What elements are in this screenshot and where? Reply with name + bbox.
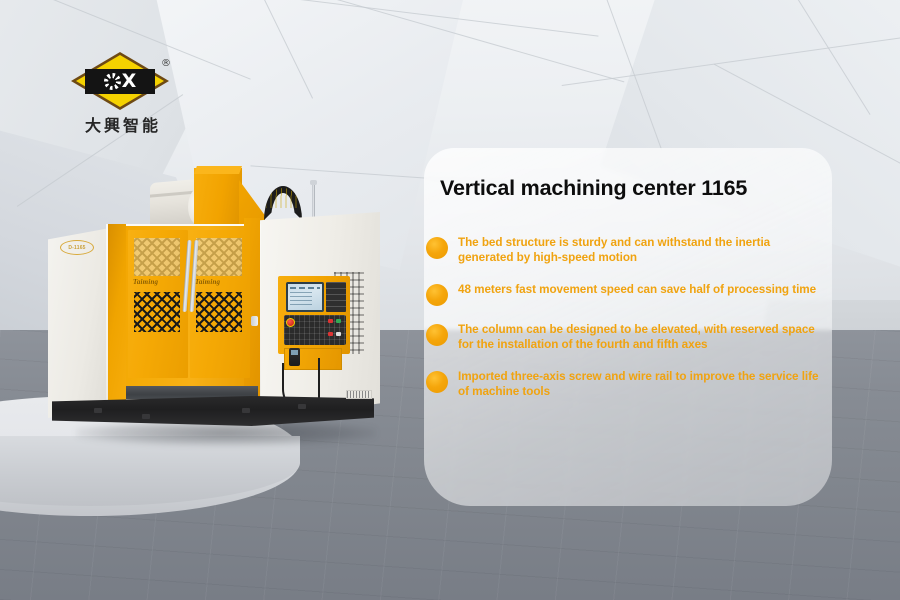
machine-spec-plate [346,390,372,399]
bullet-dot-icon [426,324,448,346]
cable-drag-chain [264,186,302,220]
machine-nameplate: D-1165 [60,240,94,255]
cnc-display-screen [286,282,324,312]
base-bolt [142,414,150,419]
feature-text: Imported three-axis screw and wire rail … [458,370,824,400]
feature-text: 48 meters fast movement speed can save h… [458,283,824,298]
control-button-red [328,319,333,323]
product-banner: X ® 大興智能 D-1165 Taiming [0,0,900,600]
door-mesh-window-upper [134,238,180,276]
door-brand-left: Taiming [133,278,181,286]
door-latch [251,316,258,326]
spindle-head-top [194,166,242,174]
door-brand-right: Taiming [195,278,243,286]
page-title: Vertical machining center 1165 [440,176,820,201]
company-logo: X ® 大興智能 [63,52,183,140]
machine-photo: D-1165 Taiming Taiming [46,168,386,446]
logo-letters: X [85,69,155,94]
gear-icon [104,73,121,90]
feature-item: The column can be designed to be elevate… [424,323,832,353]
drag-chain-links [266,188,300,208]
door-pillar-left [108,224,126,420]
door-mesh-window-lower [134,292,180,332]
base-bolt [242,408,250,413]
access-door-right: Taiming [190,230,250,378]
base-bolt [298,404,306,409]
logo-letter-x: X [122,72,137,91]
cabinet-left-side [48,228,110,418]
feature-item: 48 meters fast movement speed can save h… [424,283,832,306]
feature-item: Imported three-axis screw and wire rail … [424,370,832,400]
feature-text: The bed structure is sturdy and can with… [458,236,824,266]
bullet-dot-icon [426,237,448,259]
feature-list: The bed structure is sturdy and can with… [424,236,832,417]
feature-text: The column can be designed to be elevate… [458,323,824,353]
control-button-red [328,332,333,336]
emergency-stop-button [286,318,295,327]
door-mesh-window-upper [196,238,242,276]
feature-item: The bed structure is sturdy and can with… [424,236,832,266]
control-button-white [336,332,341,336]
product-info-panel: Vertical machining center 1165 The bed s… [424,148,832,506]
door-mesh-window-lower [196,292,242,332]
cnc-soft-keys [326,282,346,312]
bullet-dot-icon [426,371,448,393]
registered-trademark-icon: ® [161,58,171,69]
coolant-rod-cap [310,180,317,185]
company-name-cn: 大興智能 [63,112,183,136]
spindle-head-housing [194,168,242,230]
cnc-screen-content [288,284,322,310]
pendant-display [291,350,298,355]
logo-diamond-icon: X ® [71,52,169,110]
control-button-green [336,319,341,323]
base-bolt [94,408,102,413]
access-door-left: Taiming [128,230,188,378]
bullet-dot-icon [426,284,448,306]
